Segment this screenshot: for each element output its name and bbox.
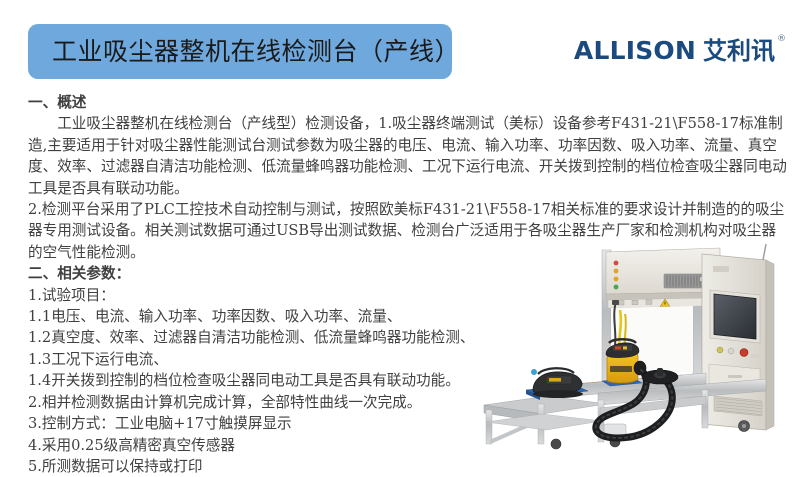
brand-logo-latin: ALLISON	[574, 36, 696, 66]
equipment-photo	[470, 244, 800, 450]
slide-canvas: 工业吸尘器整机在线检测台（产线） ALLISON 艾利讯 ® 一、概述 工业吸尘…	[0, 0, 800, 450]
power-socket-3	[646, 300, 652, 305]
list-item: 5.所测数据可以保持或打印	[28, 456, 790, 477]
page-title-banner: 工业吸尘器整机在线检测台（产线）	[28, 24, 452, 79]
floor-nozzle-joint	[657, 368, 663, 376]
indicator-light-amber-1	[614, 269, 619, 274]
vacuum-power-switch	[615, 346, 621, 349]
indicator-light-amber-2	[614, 277, 619, 282]
indicator-light-green	[614, 285, 619, 290]
brand-logo-cjk: 艾利讯	[703, 36, 775, 66]
cabinet-drawer-handle	[728, 375, 742, 378]
cabinet-brand-badge	[713, 266, 729, 272]
section-1-heading: 一、概述	[28, 92, 790, 113]
cabinet-nameplate	[751, 354, 761, 358]
caster-wheel-2	[551, 439, 561, 449]
caster-hub	[742, 424, 746, 428]
black-vacuum-label	[549, 378, 561, 382]
vacuum-label	[610, 366, 632, 372]
power-socket-2	[632, 300, 638, 305]
brand-logo: ALLISON 艾利讯 ®	[574, 36, 786, 72]
power-plug	[612, 300, 619, 305]
frame-leg-4	[702, 390, 708, 428]
section-1-paragraph-1: 工业吸尘器整机在线检测台（产线型）检测设备，1.吸尘器终端测试（美标）设备参考F…	[28, 113, 790, 199]
indicator-light-red	[614, 261, 619, 266]
touchscreen-display	[714, 294, 756, 339]
black-vacuum-fitting	[531, 369, 537, 375]
registered-trademark-icon: ®	[777, 34, 786, 44]
button-yellow	[717, 347, 723, 353]
button-grey	[728, 348, 734, 354]
vacuum-mode-switch	[623, 346, 627, 349]
control-cabinet-side	[766, 260, 774, 430]
frame-leg-1	[486, 410, 492, 444]
emergency-stop-button	[740, 349, 748, 357]
page-title: 工业吸尘器整机在线检测台（产线）	[52, 38, 460, 66]
black-vacuum-base	[533, 390, 583, 398]
